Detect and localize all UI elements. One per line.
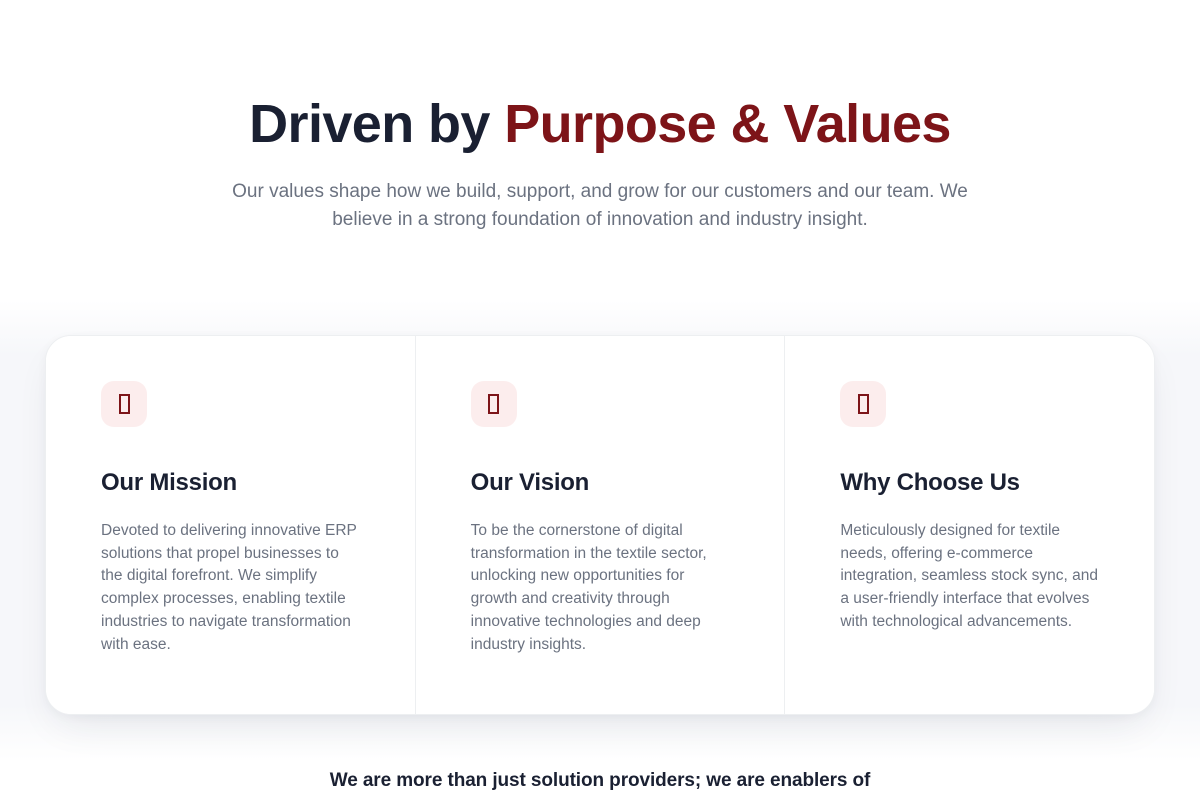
tofu-glyph-shape — [858, 394, 869, 414]
missing-glyph-box-icon — [471, 381, 517, 427]
missing-glyph-box-icon — [101, 381, 147, 427]
card-body: To be the cornerstone of digital transfo… — [471, 520, 730, 656]
page-title: Driven by Purpose & Values — [0, 92, 1200, 156]
card-title: Our Mission — [101, 468, 360, 498]
card-title: Our Vision — [471, 468, 730, 498]
value-card-why-choose-us: Why Choose Us Meticulously designed for … — [784, 336, 1154, 714]
values-page: Driven by Purpose & Values Our values sh… — [0, 0, 1200, 800]
page-title-accent: Purpose & Values — [504, 94, 951, 154]
page-subtitle: Our values shape how we build, support, … — [220, 178, 980, 234]
page-header: Driven by Purpose & Values Our values sh… — [0, 0, 1200, 234]
value-card-vision: Our Vision To be the cornerstone of digi… — [415, 336, 785, 714]
card-body: Devoted to delivering innovative ERP sol… — [101, 520, 360, 656]
missing-glyph-box-icon — [840, 381, 886, 427]
card-body: Meticulously designed for textile needs,… — [840, 520, 1099, 634]
values-cards: Our Mission Devoted to delivering innova… — [45, 335, 1155, 715]
value-card-mission: Our Mission Devoted to delivering innova… — [46, 336, 415, 714]
tofu-glyph-shape — [119, 394, 130, 414]
values-cards-container: Our Mission Devoted to delivering innova… — [45, 335, 1155, 715]
page-title-lead: Driven by — [249, 94, 504, 154]
closing-statement: We are more than just solution providers… — [0, 766, 1200, 796]
card-title: Why Choose Us — [840, 468, 1099, 498]
tofu-glyph-shape — [488, 394, 499, 414]
